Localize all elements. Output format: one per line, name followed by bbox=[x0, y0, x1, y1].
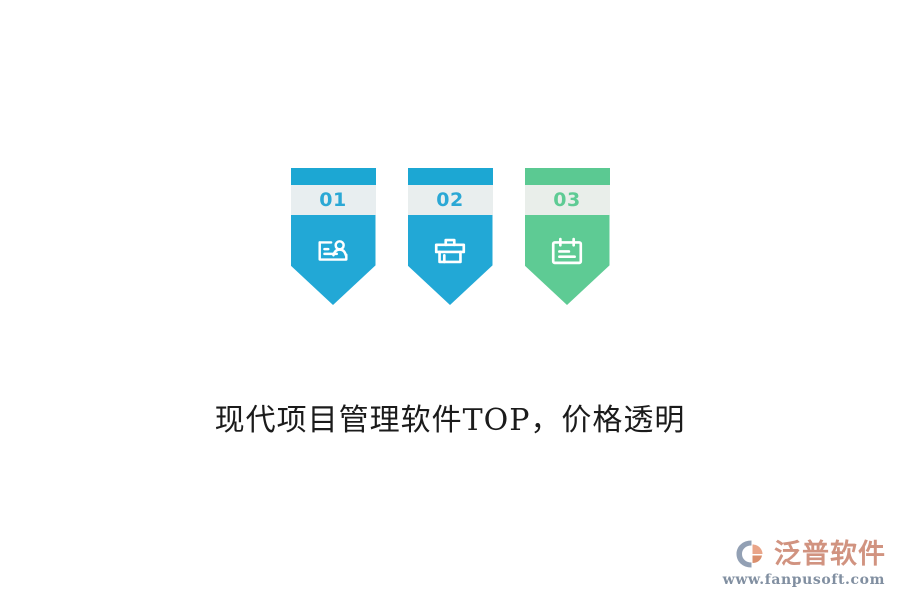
banner-number-label-02: 02 bbox=[436, 191, 463, 210]
brand-watermark: 泛普软件 www.fanpusoft.com bbox=[723, 539, 886, 588]
banner-top-strip-03 bbox=[525, 168, 610, 185]
screenshot-canvas: 01 bbox=[0, 0, 900, 600]
banner-body-03 bbox=[525, 215, 610, 305]
banner-top-strip-01 bbox=[291, 168, 376, 185]
banner-number-band-01: 01 bbox=[291, 185, 376, 215]
brand-watermark-row: 泛普软件 bbox=[735, 539, 886, 569]
banner-item-03[interactable]: 03 bbox=[525, 168, 610, 305]
fanpu-logo-icon bbox=[735, 539, 769, 569]
banner-item-01[interactable]: 01 bbox=[291, 168, 376, 305]
banner-number-band-02: 02 bbox=[408, 185, 493, 215]
banner-number-label-03: 03 bbox=[553, 191, 580, 210]
banner-item-02[interactable]: 02 bbox=[408, 168, 493, 305]
calendar-note-icon bbox=[548, 232, 586, 270]
banner-top-strip-02 bbox=[408, 168, 493, 185]
briefcase-icon bbox=[431, 232, 469, 270]
banner-number-band-03: 03 bbox=[525, 185, 610, 215]
banner-body-01 bbox=[291, 215, 376, 305]
brand-url-label: www.fanpusoft.com bbox=[723, 572, 885, 588]
contact-card-icon bbox=[314, 232, 352, 270]
banner-body-02 bbox=[408, 215, 493, 305]
brand-name-label: 泛普软件 bbox=[774, 541, 886, 568]
page-headline: 现代项目管理软件TOP，价格透明 bbox=[0, 402, 900, 440]
banner-number-label-01: 01 bbox=[319, 191, 346, 210]
banner-group: 01 bbox=[0, 168, 900, 305]
